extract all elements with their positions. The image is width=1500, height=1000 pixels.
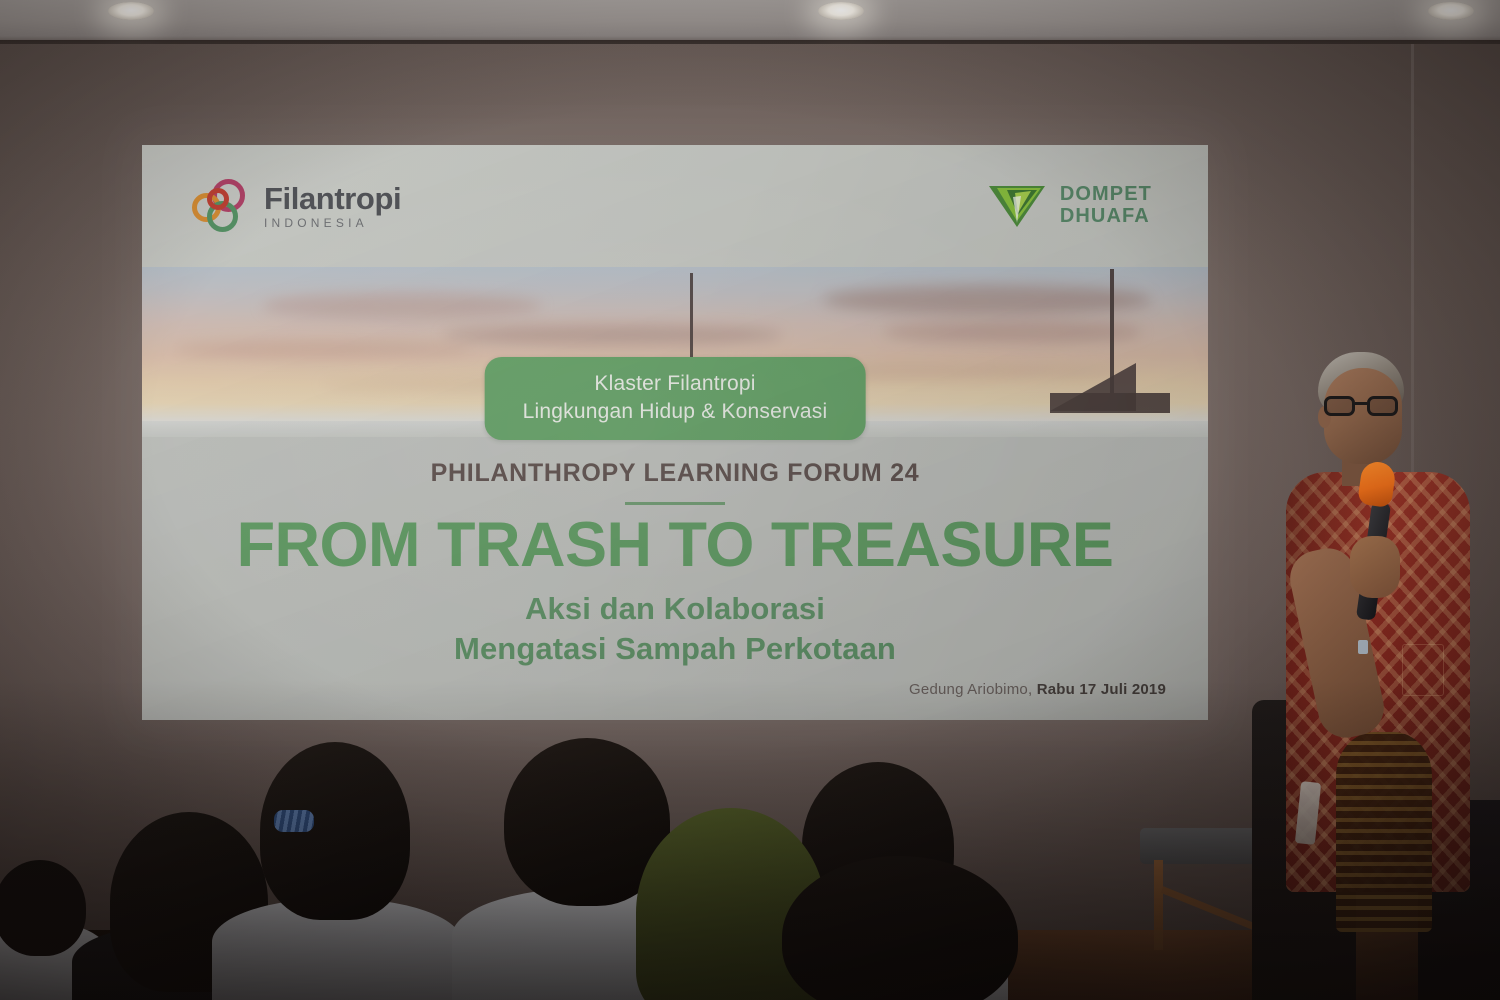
glasses-bridge [1355,402,1367,405]
slide-footnote: Gedung Ariobimo, Rabu 17 Juli 2019 [909,681,1166,698]
audience-member-3 [212,742,462,1000]
speaker-shirt-pocket [1402,644,1444,696]
slide-body: PHILANTHROPY LEARNING FORUM 24 FROM TRAS… [142,437,1208,720]
hair-scrunchie [274,810,314,832]
cluster-chip: Klaster Filantropi Lingkungan Hidup & Ko… [485,357,866,440]
cloud-shape [262,293,542,319]
audience-head [782,856,1018,1000]
dompet-line2: DHUAFA [1060,206,1152,228]
dompet-wordmark: DOMPET DHUAFA [1060,184,1152,227]
stool-leg [1154,860,1163,950]
filantropi-subname: INDONESIA [264,217,401,229]
antenna-mast-silhouette [690,273,693,369]
conference-room-scene: Filantropi INDONESIA DOMPET DHUAFA [0,0,1500,1000]
cluster-chip-line2: Lingkungan Hidup & Konservasi [523,398,828,426]
projected-slide: Filantropi INDONESIA DOMPET DHUAFA [142,145,1208,720]
ring-red-icon [207,188,229,210]
filantropi-name: Filantropi [264,183,401,214]
pylon-foot-silhouette [1050,393,1170,413]
slide-headline: FROM TRASH TO TREASURE [142,513,1208,579]
footnote-venue: Gedung Ariobimo, [909,681,1032,698]
cloud-shape [882,321,1142,343]
cloud-shape [442,325,782,345]
speaker-badge [1358,640,1368,654]
speaker-hand [1350,536,1400,598]
filantropi-indonesia-logo: Filantropi INDONESIA [190,177,401,235]
title-divider [625,502,725,505]
slide-subtitle-line2: Mengatasi Sampah Perkotaan [142,629,1208,670]
ceiling-light-right [1428,2,1474,20]
slide-subtitle-line1: Aksi dan Kolaborasi [142,589,1208,630]
audience-member-7 [782,856,1018,1000]
three-interlocking-rings-icon [190,177,252,235]
dompet-line1: DOMPET [1060,184,1152,206]
glasses-lens-right [1367,396,1398,416]
dompet-dhuafa-logo: DOMPET DHUAFA [987,183,1152,229]
cluster-chip-line1: Klaster Filantropi [523,370,828,398]
footnote-date: Rabu 17 Juli 2019 [1037,681,1166,698]
green-triangle-mark-icon [987,183,1047,229]
speaker-presenter [1280,352,1480,1000]
ceiling-light-center [818,2,864,20]
slide-header: Filantropi INDONESIA DOMPET DHUAFA [142,145,1208,267]
forum-eyebrow-title: PHILANTHROPY LEARNING FORUM 24 [142,459,1208,488]
filantropi-wordmark: Filantropi INDONESIA [264,183,401,229]
cloud-shape [822,285,1152,315]
cloud-shape [172,341,472,357]
ceiling-light-left [108,2,154,20]
glasses-icon [1324,396,1404,416]
glasses-lens-left [1324,396,1355,416]
speaker-head [1324,368,1402,464]
